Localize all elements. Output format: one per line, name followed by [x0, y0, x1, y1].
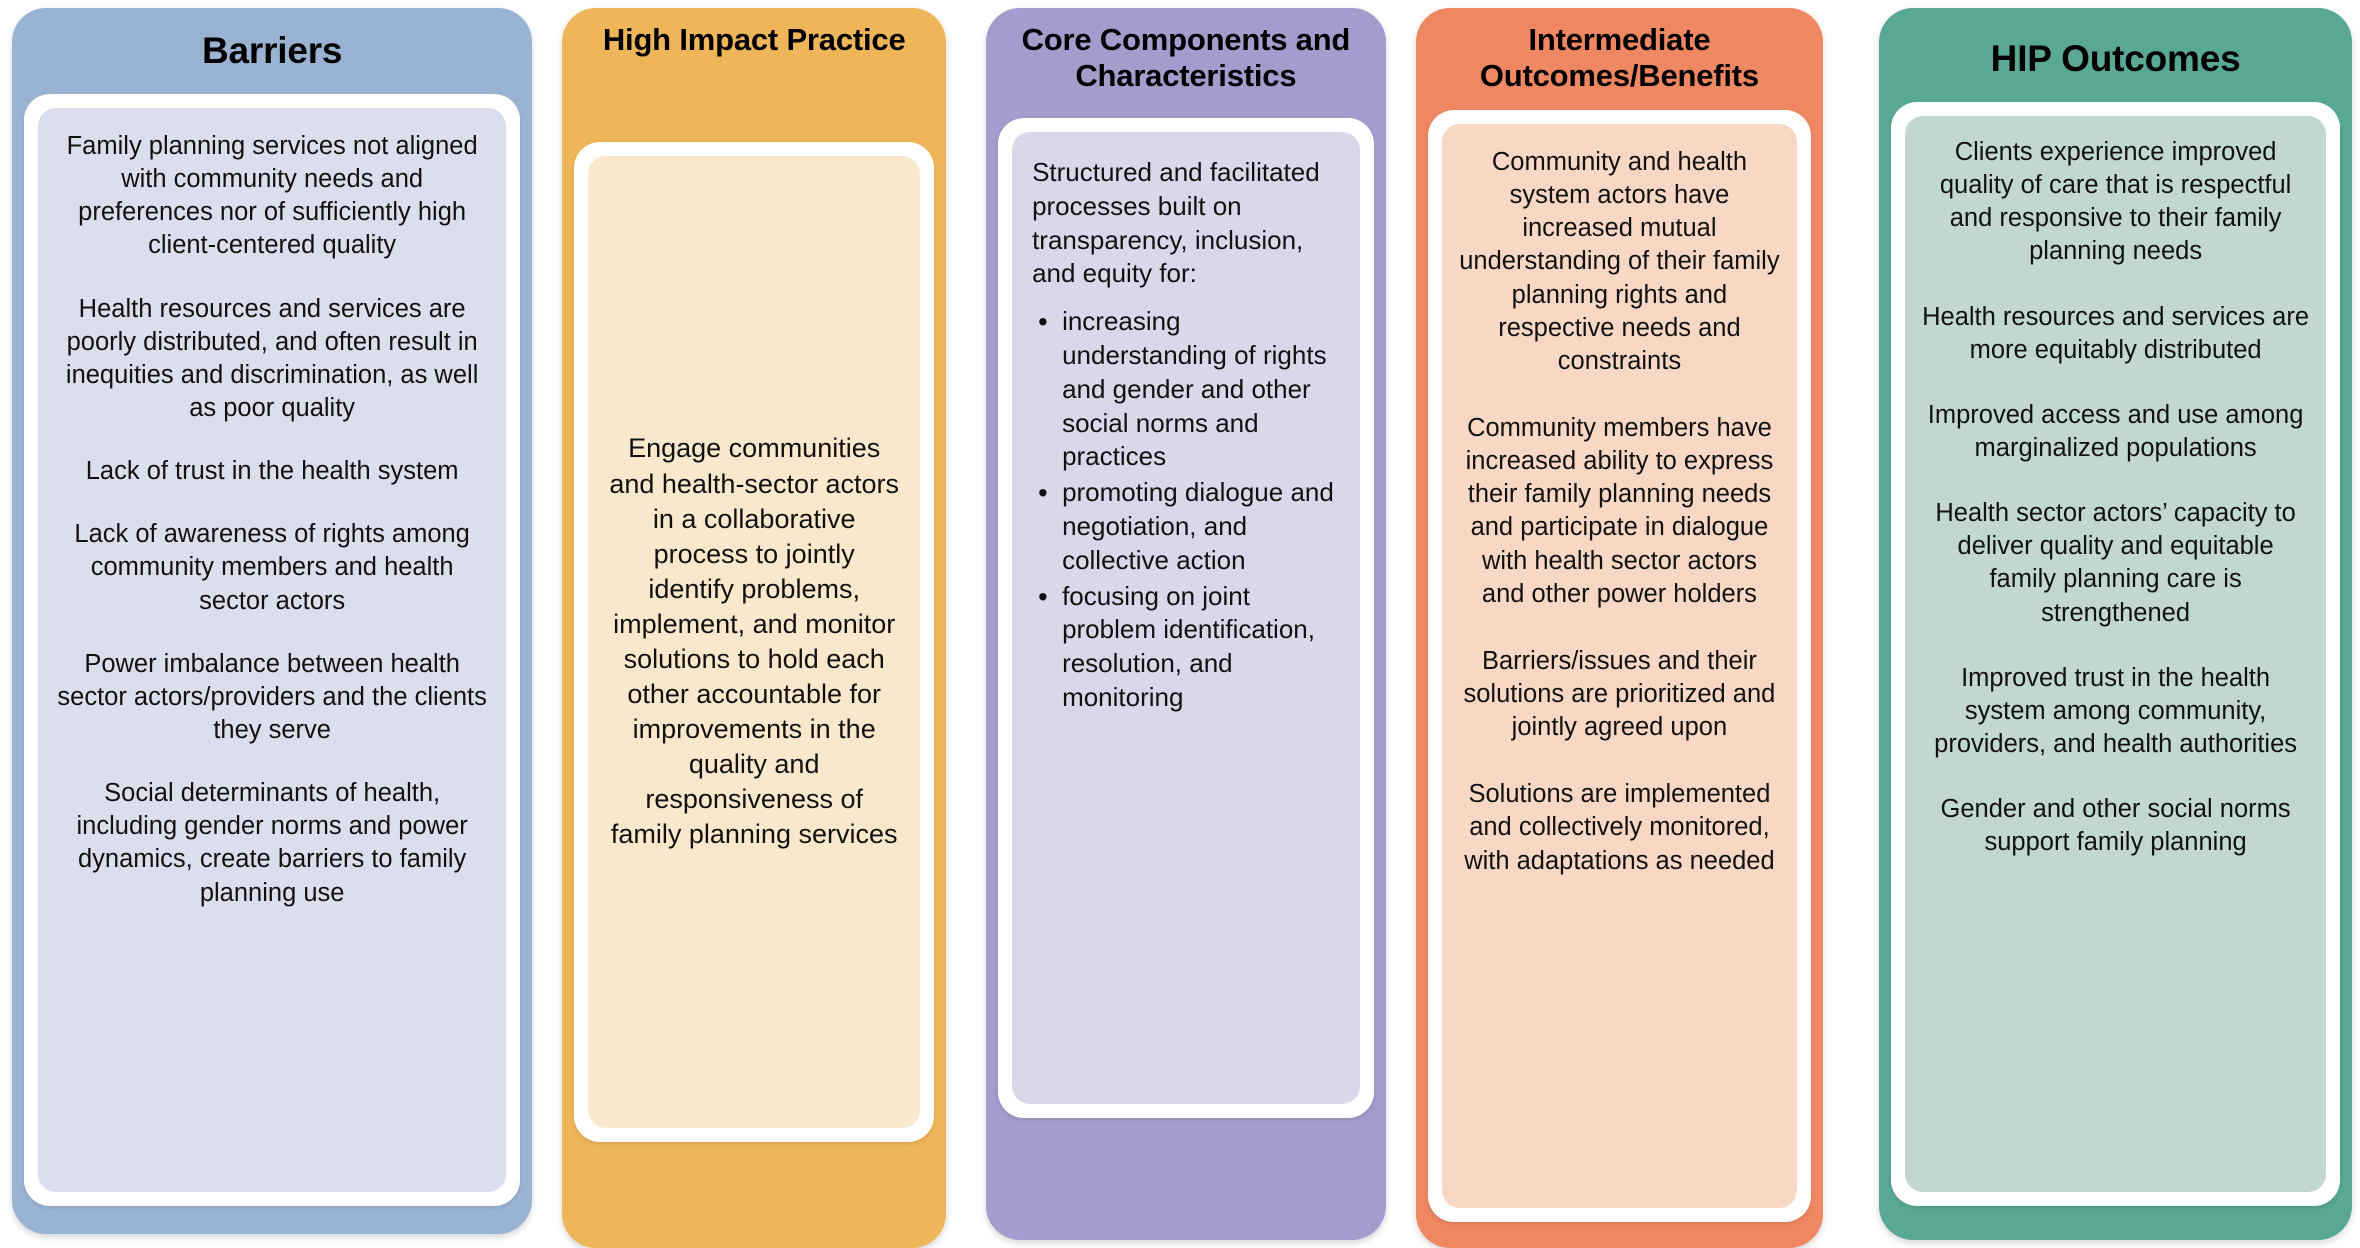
column-intermediate-outcomes: Intermediate Outcomes/Benefits Community… [1416, 8, 1824, 1248]
hip-outcomes-list: Clients experience improved quality of c… [1921, 136, 2310, 891]
core-components-bullet-list: increasing understanding of rights and g… [1032, 305, 1340, 715]
hip-outcomes-item: Gender and other social norms support fa… [1921, 793, 2310, 859]
hip-outcomes-item: Clients experience improved quality of c… [1921, 136, 2310, 269]
column-high-impact-practice: High Impact Practice Engage communities … [562, 8, 946, 1248]
inner-panel-high-impact-practice: Engage communities and health-sector act… [588, 156, 920, 1128]
barriers-item: Health resources and services are poorly… [54, 293, 490, 426]
column-hip-outcomes: HIP Outcomes Clients experience improved… [1879, 8, 2352, 1240]
inner-panel-barriers: Family planning services not aligned wit… [38, 108, 506, 1192]
barriers-list: Family planning services not aligned wit… [54, 130, 490, 940]
column-header-intermediate-outcomes: Intermediate Outcomes/Benefits [1416, 8, 1824, 108]
barriers-item: Power imbalance between health sector ac… [54, 648, 490, 747]
column-header-high-impact-practice: High Impact Practice [562, 8, 946, 108]
inner-panel-hip-outcomes: Clients experience improved quality of c… [1905, 116, 2326, 1192]
hip-outcomes-item: Improved trust in the health system amon… [1921, 662, 2310, 761]
core-components-bullet: increasing understanding of rights and g… [1032, 305, 1340, 474]
column-core-components: Core Components and Characteristics Stru… [986, 8, 1386, 1240]
inner-frame-hip-outcomes: Clients experience improved quality of c… [1891, 102, 2340, 1206]
inner-frame-core-components: Structured and facilitated processes bui… [998, 118, 1374, 1118]
inner-panel-core-components: Structured and facilitated processes bui… [1012, 132, 1360, 1104]
core-components-bullet: focusing on joint problem identification… [1032, 580, 1340, 715]
inner-frame-barriers: Family planning services not aligned wit… [24, 94, 520, 1206]
intermediate-outcomes-item: Community members have increased ability… [1458, 412, 1782, 611]
core-components-bullet: promoting dialogue and negotiation, and … [1032, 476, 1340, 577]
intermediate-outcomes-list: Community and health system actors have … [1458, 146, 1782, 912]
barriers-item: Lack of awareness of rights among commun… [54, 518, 490, 617]
barriers-item: Family planning services not aligned wit… [54, 130, 490, 263]
inner-panel-intermediate-outcomes: Community and health system actors have … [1442, 124, 1798, 1208]
column-header-core-components: Core Components and Characteristics [986, 8, 1386, 108]
core-components-intro: Structured and facilitated processes bui… [1032, 156, 1340, 291]
high-impact-practice-statement: Engage communities and health-sector act… [608, 431, 900, 852]
framework-diagram: Barriers Family planning services not al… [0, 0, 2360, 1248]
intermediate-outcomes-item: Barriers/issues and their solutions are … [1458, 645, 1782, 744]
hip-outcomes-item: Health sector actors’ capacity to delive… [1921, 497, 2310, 630]
intermediate-outcomes-item: Community and health system actors have … [1458, 146, 1782, 378]
inner-frame-intermediate-outcomes: Community and health system actors have … [1428, 110, 1812, 1222]
hip-outcomes-item: Health resources and services are more e… [1921, 301, 2310, 367]
hip-outcomes-item: Improved access and use among marginaliz… [1921, 399, 2310, 465]
barriers-item: Lack of trust in the health system [54, 455, 490, 488]
column-header-barriers: Barriers [12, 8, 532, 92]
intermediate-outcomes-item: Solutions are implemented and collective… [1458, 778, 1782, 877]
inner-frame-high-impact-practice: Engage communities and health-sector act… [574, 142, 934, 1142]
column-header-hip-outcomes: HIP Outcomes [1879, 8, 2352, 100]
column-barriers: Barriers Family planning services not al… [12, 8, 532, 1234]
barriers-item: Social determinants of health, including… [54, 777, 490, 910]
